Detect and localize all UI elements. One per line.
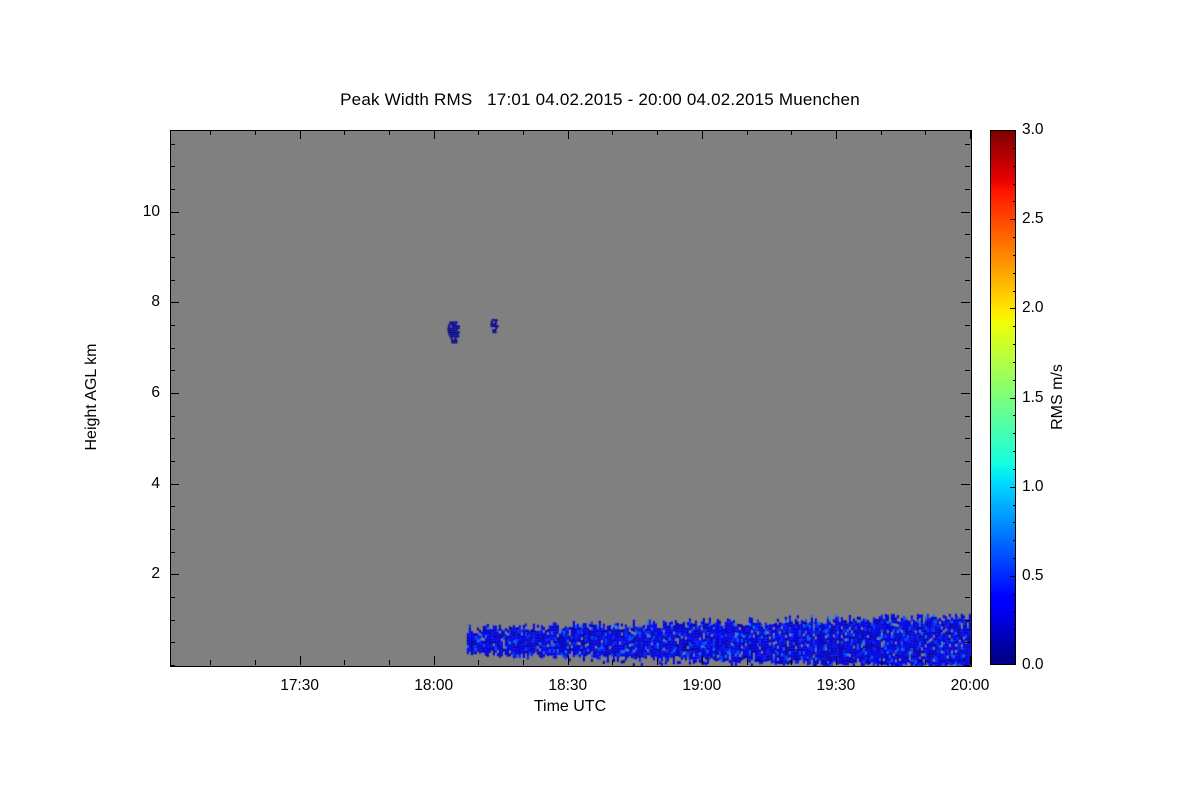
x-tick-major: [300, 656, 301, 665]
x-tick-label: 20:00: [951, 677, 990, 695]
colorbar-tick-minor: [1013, 184, 1016, 185]
y-tick-minor: [170, 438, 175, 439]
y-tick-minor: [170, 166, 175, 167]
x-tick-minor-top: [925, 130, 926, 135]
y-tick-minor: [170, 506, 175, 507]
y-tick-label: 6: [124, 384, 160, 402]
colorbar-tick-minor: [1013, 612, 1016, 613]
x-axis-title: Time UTC: [170, 698, 970, 716]
colorbar-tick-minor: [1013, 166, 1016, 167]
x-tick-minor-top: [344, 130, 345, 135]
colorbar-tick-minor: [1013, 522, 1016, 523]
y-tick-minor-right: [965, 234, 970, 235]
y-tick-major: [170, 302, 179, 303]
colorbar-tick-label: 1.5: [1022, 389, 1044, 407]
heatmap-data-layer: [171, 131, 971, 666]
x-tick-major: [702, 656, 703, 665]
colorbar-tick-minor: [1013, 291, 1016, 292]
colorbar-tick-minor: [1013, 255, 1016, 256]
colorbar-tick-minor: [1013, 380, 1016, 381]
x-tick-label: 18:30: [548, 677, 587, 695]
x-tick-minor: [612, 660, 613, 665]
y-tick-minor: [170, 620, 175, 621]
colorbar-tick-label: 2.0: [1022, 299, 1044, 317]
colorbar-tick-major: [1010, 308, 1016, 309]
y-tick-minor-right: [965, 597, 970, 598]
x-tick-minor: [523, 660, 524, 665]
y-tick-minor: [170, 189, 175, 190]
y-tick-minor: [170, 552, 175, 553]
x-tick-major-top: [702, 130, 703, 139]
y-tick-major: [170, 574, 179, 575]
x-tick-label: 19:30: [817, 677, 856, 695]
colorbar-tick-minor: [1013, 201, 1016, 202]
y-tick-label: 8: [124, 293, 160, 311]
x-tick-minor: [255, 660, 256, 665]
x-tick-minor-top: [791, 130, 792, 135]
colorbar-tick-label: 0.0: [1022, 656, 1044, 674]
x-tick-label: 18:00: [414, 677, 453, 695]
x-tick-minor: [210, 660, 211, 665]
y-tick-minor-right: [965, 506, 970, 507]
y-tick-major-right: [961, 484, 970, 485]
y-tick-minor: [170, 234, 175, 235]
colorbar-tick-minor: [1013, 629, 1016, 630]
y-tick-label: 4: [124, 475, 160, 493]
colorbar-tick-minor: [1013, 237, 1016, 238]
y-tick-minor-right: [965, 325, 970, 326]
y-tick-major: [170, 212, 179, 213]
y-tick-major-right: [961, 574, 970, 575]
colorbar-tick-major: [1010, 487, 1016, 488]
y-tick-minor: [170, 280, 175, 281]
x-tick-minor: [925, 660, 926, 665]
x-tick-major: [434, 656, 435, 665]
y-tick-minor: [170, 257, 175, 258]
x-tick-minor: [344, 660, 345, 665]
y-tick-minor: [170, 348, 175, 349]
y-tick-minor: [170, 529, 175, 530]
y-tick-minor-right: [965, 461, 970, 462]
y-tick-minor: [170, 416, 175, 417]
colorbar-tick-minor: [1013, 558, 1016, 559]
y-tick-minor: [170, 144, 175, 145]
colorbar-tick-minor: [1013, 540, 1016, 541]
colorbar-tick-minor: [1013, 505, 1016, 506]
colorbar-tick-minor: [1013, 344, 1016, 345]
x-tick-major-top: [434, 130, 435, 139]
y-tick-minor: [170, 370, 175, 371]
colorbar-tick-major: [1010, 576, 1016, 577]
y-tick-minor-right: [965, 166, 970, 167]
x-tick-minor: [478, 660, 479, 665]
y-tick-minor-right: [965, 620, 970, 621]
y-tick-minor-right: [965, 144, 970, 145]
y-tick-minor-right: [965, 642, 970, 643]
x-tick-major-top: [568, 130, 569, 139]
colorbar-tick-minor: [1013, 451, 1016, 452]
y-tick-minor: [170, 665, 175, 666]
y-axis-title: Height AGL km: [83, 343, 101, 450]
x-tick-minor-top: [389, 130, 390, 135]
colorbar-title: RMS m/s: [1049, 364, 1067, 430]
x-tick-major: [568, 656, 569, 665]
y-tick-minor: [170, 597, 175, 598]
colorbar-tick-label: 1.0: [1022, 478, 1044, 496]
colorbar-tick-label: 0.5: [1022, 567, 1044, 585]
plot-area[interactable]: [170, 130, 972, 667]
colorbar-tick-minor: [1013, 362, 1016, 363]
x-tick-major-top: [300, 130, 301, 139]
y-tick-minor-right: [965, 189, 970, 190]
y-tick-major-right: [961, 212, 970, 213]
y-tick-minor-right: [965, 280, 970, 281]
x-tick-minor-top: [657, 130, 658, 135]
y-tick-minor-right: [965, 257, 970, 258]
x-tick-minor-top: [255, 130, 256, 135]
y-tick-minor: [170, 642, 175, 643]
colorbar-tick-minor: [1013, 433, 1016, 434]
x-tick-minor: [881, 660, 882, 665]
x-tick-major: [970, 656, 971, 665]
x-tick-minor-top: [478, 130, 479, 135]
y-tick-minor-right: [965, 416, 970, 417]
colorbar-tick-minor: [1013, 273, 1016, 274]
colorbar-tick-label: 3.0: [1022, 121, 1044, 139]
y-tick-minor: [170, 325, 175, 326]
x-tick-label: 17:30: [280, 677, 319, 695]
x-tick-minor: [747, 660, 748, 665]
x-tick-minor: [791, 660, 792, 665]
y-tick-minor: [170, 461, 175, 462]
x-tick-minor: [389, 660, 390, 665]
y-tick-minor-right: [965, 348, 970, 349]
x-tick-minor-top: [881, 130, 882, 135]
colorbar-tick-minor: [1013, 326, 1016, 327]
x-tick-major: [836, 656, 837, 665]
y-tick-major: [170, 484, 179, 485]
colorbar-tick-minor: [1013, 647, 1016, 648]
y-tick-major-right: [961, 302, 970, 303]
colorbar-tick-major: [1010, 219, 1016, 220]
colorbar-tick-major: [1010, 398, 1016, 399]
colorbar-tick-minor: [1013, 469, 1016, 470]
x-tick-minor-top: [210, 130, 211, 135]
x-tick-minor-top: [612, 130, 613, 135]
y-tick-minor-right: [965, 552, 970, 553]
colorbar-tick-label: 2.5: [1022, 210, 1044, 228]
colorbar-tick-minor: [1013, 594, 1016, 595]
y-tick-minor-right: [965, 370, 970, 371]
x-tick-label: 19:00: [682, 677, 721, 695]
y-tick-minor-right: [965, 438, 970, 439]
x-tick-minor-top: [523, 130, 524, 135]
y-tick-minor-right: [965, 665, 970, 666]
colorbar-tick-major: [1010, 130, 1016, 131]
x-tick-major-top: [836, 130, 837, 139]
y-tick-major: [170, 393, 179, 394]
colorbar-tick-minor: [1013, 148, 1016, 149]
x-tick-minor: [657, 660, 658, 665]
page-title: Peak Width RMS 17:01 04.02.2015 - 20:00 …: [0, 90, 1200, 110]
colorbar-tick-minor: [1013, 415, 1016, 416]
y-tick-label: 2: [124, 565, 160, 583]
x-tick-minor-top: [747, 130, 748, 135]
y-tick-minor-right: [965, 529, 970, 530]
y-tick-major-right: [961, 393, 970, 394]
x-tick-major-top: [970, 130, 971, 139]
colorbar-tick-major: [1010, 664, 1016, 665]
figure-canvas: Peak Width RMS 17:01 04.02.2015 - 20:00 …: [0, 0, 1200, 800]
y-tick-label: 10: [124, 203, 160, 221]
